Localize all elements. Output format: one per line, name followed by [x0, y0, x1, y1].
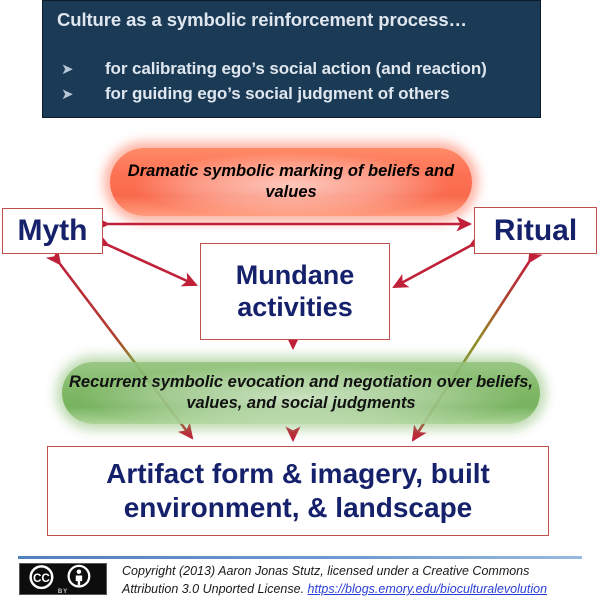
- arrow-myth-mundane: [108, 245, 196, 285]
- svg-text:CC: CC: [33, 572, 50, 585]
- node-mundane-activities[interactable]: Mundane activities: [200, 243, 390, 340]
- list-item: ➤ for calibrating ego’s social action (a…: [57, 59, 527, 84]
- bullet-label: for guiding ego’s social judgment of oth…: [105, 84, 450, 104]
- header-banner: Culture as a symbolic reinforcement proc…: [42, 0, 541, 118]
- footer-divider: [18, 556, 582, 559]
- cc-by-icon: CC BY: [20, 564, 106, 594]
- header-bullet-list: ➤ for calibrating ego’s social action (a…: [57, 59, 527, 109]
- copyright-line-1: Copyright (2013) Aaron Jonas Stutz, lice…: [122, 564, 529, 578]
- page-title: Culture as a symbolic reinforcement proc…: [57, 9, 467, 31]
- node-artifact-form-imagery[interactable]: Artifact form & imagery, built environme…: [47, 446, 549, 536]
- node-myth[interactable]: Myth: [2, 208, 103, 254]
- copyright-notice: Copyright (2013) Aaron Jonas Stutz, lice…: [122, 562, 592, 598]
- copyright-line-2: Attribution 3.0 Unported License.: [122, 582, 308, 596]
- arrow-bullet-icon: ➤: [57, 62, 105, 77]
- svg-text:BY: BY: [58, 588, 68, 594]
- callout-recurrent-symbolic-evocation: Recurrent symbolic evocation and negotia…: [62, 362, 540, 424]
- slide-canvas: Culture as a symbolic reinforcement proc…: [0, 0, 600, 602]
- blog-url-link[interactable]: https://blogs.emory.edu/bioculturalevolu…: [308, 582, 548, 596]
- creative-commons-badge-icon: CC BY: [19, 563, 107, 595]
- arrow-ritual-mundane: [394, 246, 470, 287]
- bullet-label: for calibrating ego’s social action (and…: [105, 59, 487, 79]
- callout-dramatic-symbolic-marking: Dramatic symbolic marking of beliefs and…: [110, 148, 472, 216]
- arrow-bullet-icon: ➤: [57, 87, 105, 102]
- node-ritual[interactable]: Ritual: [474, 207, 597, 254]
- list-item: ➤ for guiding ego’s social judgment of o…: [57, 84, 527, 109]
